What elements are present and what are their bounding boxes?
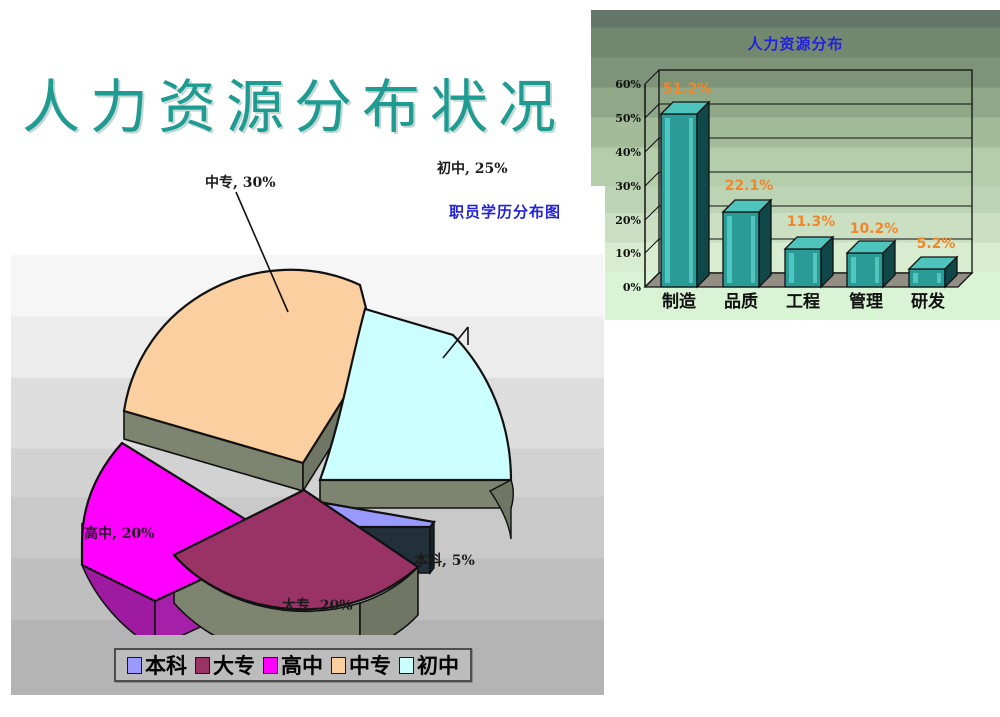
pie-label-zhongzhuan: 中专, 30% [205,172,276,192]
x-tick-label: 研发 [911,291,946,312]
legend-entry-dazhuan[interactable]: 大专 [195,655,255,676]
y-tick-label: 30% [615,180,641,193]
bar-value-label: 11.3% [787,214,836,230]
bar-value-label: 10.2% [850,221,899,237]
legend-swatch-icon [195,657,210,674]
legend-swatch-icon [127,657,142,674]
legend-entry-benke[interactable]: 本科 [127,655,187,676]
pie-chart-title: 职员学历分布图 [449,201,561,222]
legend-swatch-icon [331,657,346,674]
bar-chart: 60% 50% 40% 30% 20% 10% 0% [591,10,1000,320]
bar-chart-panel: 人力资源分布 60% 50% [591,10,1000,320]
bar-pinzhi [723,200,771,287]
bar-gongcheng [785,237,833,287]
y-tick-label: 10% [615,247,641,260]
bar-value-label: 51.2% [663,81,712,97]
bar-yanfa [909,257,957,287]
pie-label-chuzhong: 初中, 25% [437,158,508,178]
pie-label-dazhuan: 大专, 20% [282,595,353,615]
y-tick-label: 50% [615,112,641,125]
x-tick-label: 管理 [849,291,883,312]
legend-entry-gaozhong[interactable]: 高中 [263,655,323,676]
pie-label-gaozhong: 高中, 20% [84,523,155,543]
y-tick-label: 20% [615,214,641,227]
legend-entry-chuzhong[interactable]: 初中 [399,655,459,676]
legend-label: 高中 [281,655,323,676]
pie-legend: 本科 大专 高中 中专 初中 [114,648,472,682]
bar-guanli [847,241,895,287]
y-tick-label: 0% [623,281,642,294]
pie-label-benke: 本科, 5% [414,550,475,570]
bar-y-tick-labels: 60% 50% 40% 30% 20% 10% 0% [615,78,641,294]
pie-chart [60,255,560,635]
legend-swatch-icon [263,657,278,674]
y-tick-label: 40% [615,146,641,159]
legend-label: 本科 [145,655,187,676]
legend-entry-zhongzhuan[interactable]: 中专 [331,655,391,676]
legend-label: 初中 [417,655,459,676]
x-tick-label: 品质 [724,292,758,312]
y-tick-label: 60% [615,78,641,91]
x-tick-label: 工程 [786,292,820,312]
bar-value-label: 5.2% [917,236,956,252]
legend-swatch-icon [399,657,414,674]
bar-y-axis [645,70,659,287]
bar-zhizao [661,102,709,287]
bar-x-tick-labels: 制造 品质 工程 管理 研发 [662,291,946,312]
bar-value-label: 22.1% [725,178,774,194]
legend-label: 大专 [213,655,255,676]
page-title: 人力资源分布状况 [22,78,566,136]
legend-label: 中专 [349,655,391,676]
x-tick-label: 制造 [662,291,697,312]
